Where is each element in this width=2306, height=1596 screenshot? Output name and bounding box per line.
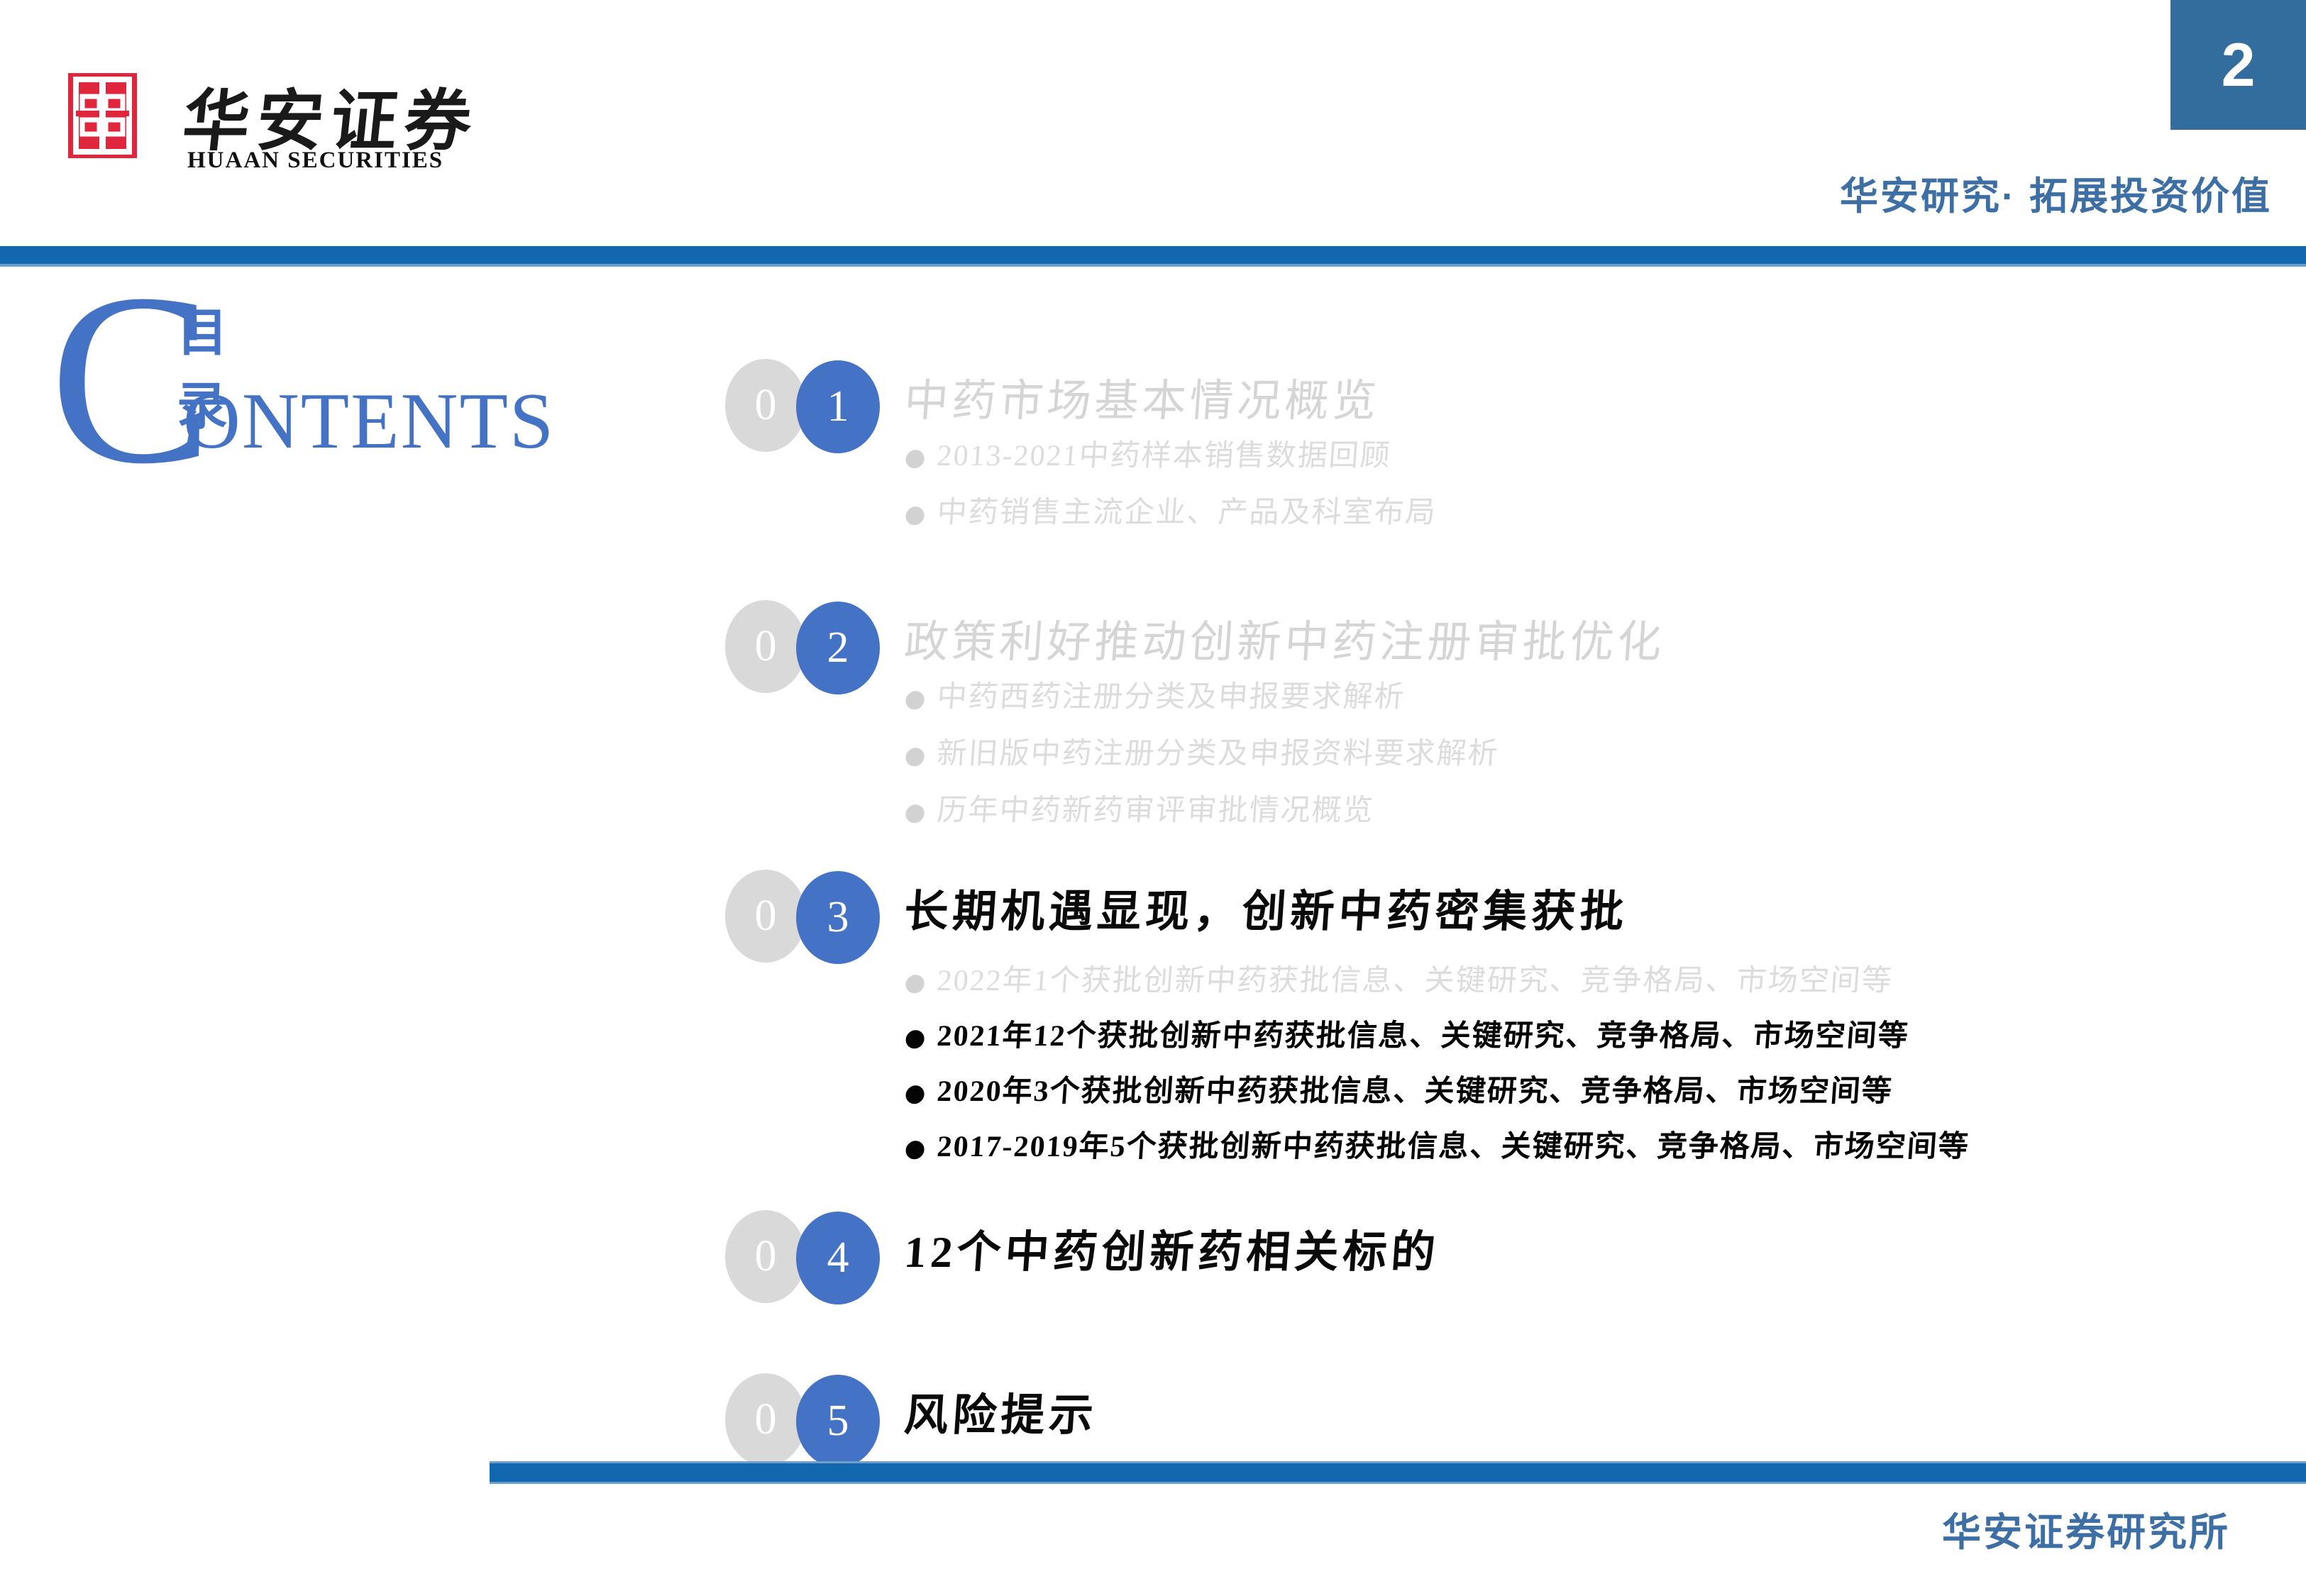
bullet-dot-icon: ● [904, 800, 927, 824]
huaan-seal-logo-icon [68, 73, 137, 158]
list-item[interactable]: ● 中药西药注册分类及申报要求解析 [904, 682, 1501, 712]
section-zero-ellipse: 0 [725, 1210, 806, 1303]
section-number-ellipse: 5 [796, 1375, 880, 1468]
list-item-label: 2020年3个获批创新中药获批信息、关键研究、竞争格局、市场空间等 [936, 1077, 1894, 1107]
section-zero-ellipse: 0 [725, 600, 806, 693]
contents-badge: C 目录 ONTENTS [50, 268, 688, 495]
list-item[interactable]: ● 历年中药新药审评审批情况概览 [904, 796, 1501, 826]
section-number-group: 0 1 [710, 349, 880, 445]
section-number-group: 0 4 [710, 1200, 880, 1296]
section-zero-ellipse: 0 [725, 1373, 806, 1466]
list-item-label: 中药西药注册分类及申报要求解析 [936, 682, 1406, 712]
footer-divider-bar [490, 1461, 2306, 1484]
bullet-dot-icon: ● [904, 1136, 927, 1160]
list-item[interactable]: ● 2013-2021中药样本销售数据回顾 [904, 441, 1438, 471]
header-divider-bar-thin [0, 264, 2306, 267]
section-title[interactable]: 政策利好推动创新中药注册审批优化 [903, 606, 1667, 670]
list-item[interactable]: ● 2020年3个获批创新中药获批信息、关键研究、竞争格局、市场空间等 [904, 1077, 1971, 1107]
list-item[interactable]: ● 2017-2019年5个获批创新中药获批信息、关键研究、竞争格局、市场空间等 [904, 1132, 1971, 1162]
list-item-label: 2017-2019年5个获批创新中药获批信息、关键研究、竞争格局、市场空间等 [936, 1132, 1970, 1162]
list-item[interactable]: ● 2022年1个获批创新中药获批信息、关键研究、竞争格局、市场空间等 [904, 966, 1971, 996]
list-item-label: 中药销售主流企业、产品及科室布局 [936, 498, 1438, 528]
section-number-group: 0 2 [710, 590, 880, 686]
section-bullet-list: ● 中药西药注册分类及申报要求解析 ● 新旧版中药注册分类及申报资料要求解析 ●… [905, 682, 1499, 826]
logo-wordmark-en: HUAAN SECURITIES [187, 148, 443, 174]
list-item-label: 新旧版中药注册分类及申报资料要求解析 [936, 739, 1500, 769]
bullet-dot-icon: ● [904, 445, 927, 470]
slide-root: 2 华安证券 HUAAN SECURITIES 华安研究· 拓展投资价值 C 目… [0, 0, 2306, 1596]
section-number-group: 0 3 [710, 860, 880, 955]
section-bullet-list: ● 2013-2021中药样本销售数据回顾 ● 中药销售主流企业、产品及科室布局 [905, 441, 1437, 528]
bullet-dot-icon: ● [904, 1081, 927, 1105]
list-item[interactable]: ● 2021年12个获批创新中药获批信息、关键研究、竞争格局、市场空间等 [904, 1021, 1971, 1051]
section-number-ellipse: 2 [796, 602, 880, 694]
bullet-dot-icon: ● [904, 1026, 927, 1050]
company-logo: 华安证券 HUAAN SECURITIES [68, 73, 565, 176]
bullet-dot-icon: ● [904, 743, 927, 767]
section-bullet-list: ● 2022年1个获批创新中药获批信息、关键研究、竞争格局、市场空间等 ● 20… [905, 966, 1970, 1162]
list-item-label: 历年中药新药审评审批情况概览 [936, 796, 1375, 826]
footer-brand-text: 华安证券研究所 [1942, 1500, 2230, 1557]
section-number-group: 0 5 [710, 1363, 880, 1459]
page-number-value: 2 [2222, 35, 2256, 96]
section-number-ellipse: 1 [796, 360, 880, 453]
bullet-dot-icon: ● [904, 502, 927, 526]
section-title[interactable]: 风险提示 [903, 1379, 1100, 1443]
page-number-badge: 2 [2170, 0, 2306, 130]
list-item-label: 2022年1个获批创新中药获批信息、关键研究、竞争格局、市场空间等 [936, 966, 1894, 996]
list-item-label: 2013-2021中药样本销售数据回顾 [936, 441, 1392, 471]
section-zero-ellipse: 0 [725, 870, 806, 963]
list-item[interactable]: ● 中药销售主流企业、产品及科室布局 [904, 498, 1438, 528]
section-title[interactable]: 长期机遇显现，创新中药密集获批 [903, 875, 1631, 939]
header-tagline: 华安研究· 拓展投资价值 [1840, 165, 2272, 221]
header-divider-bar [0, 246, 2306, 264]
section-number-ellipse: 4 [796, 1212, 880, 1304]
list-item-label: 2021年12个获批创新中药获批信息、关键研究、竞争格局、市场空间等 [936, 1021, 1910, 1051]
bullet-dot-icon: ● [904, 687, 927, 711]
section-title[interactable]: 中药市场基本情况概览 [903, 365, 1382, 428]
section-zero-ellipse: 0 [725, 359, 806, 452]
contents-badge-word: ONTENTS [183, 376, 555, 467]
section-number-ellipse: 3 [796, 871, 880, 964]
list-item[interactable]: ● 新旧版中药注册分类及申报资料要求解析 [904, 739, 1501, 769]
section-title[interactable]: 12个中药创新药相关标的 [903, 1216, 1442, 1280]
bullet-dot-icon: ● [904, 970, 927, 994]
